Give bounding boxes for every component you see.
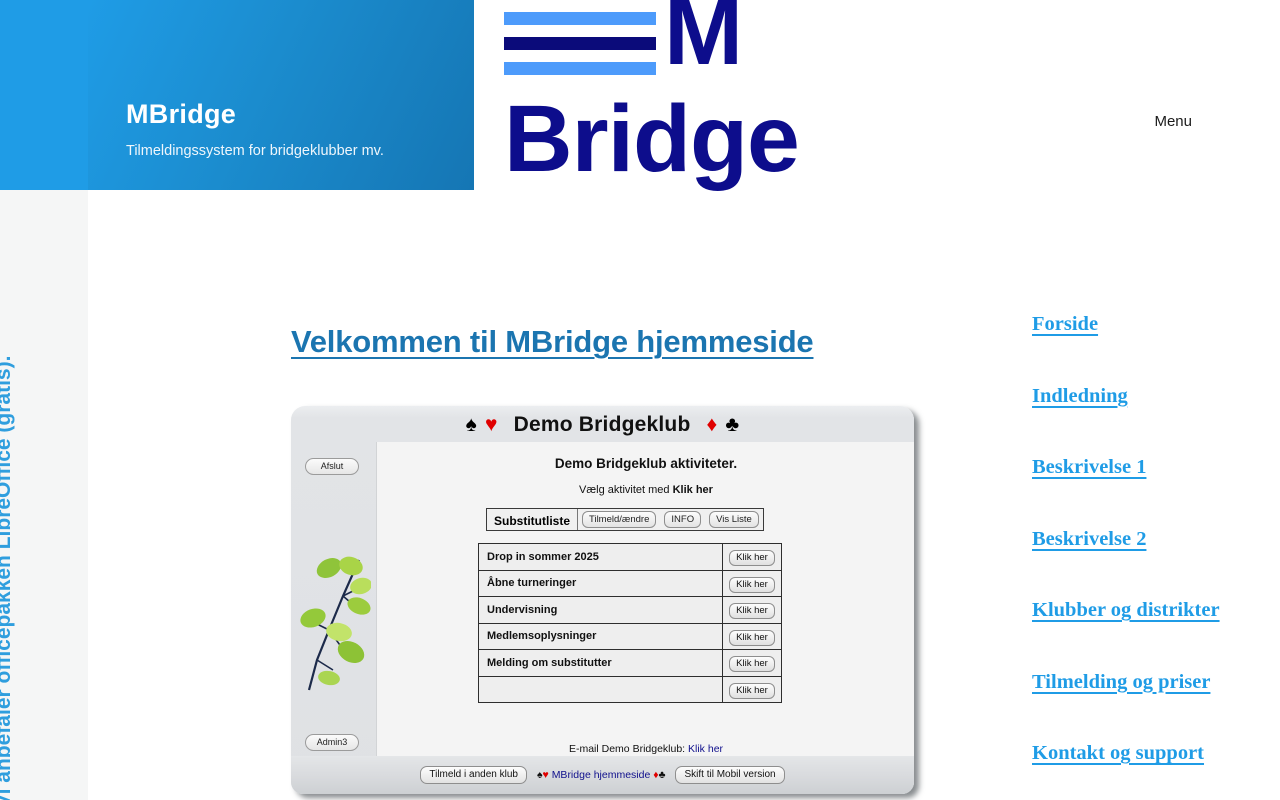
menu-toggle[interactable]: Menu — [1154, 113, 1244, 130]
tilmeld-anden-klub-button[interactable]: Tilmeld i anden klub — [420, 766, 527, 784]
club-icon: ♣ — [725, 413, 739, 436]
page-root: MBridge Tilmeldingssystem for bridgeklub… — [0, 0, 1280, 800]
tab-tilmeld-aendre[interactable]: Tilmeld/ændre — [582, 511, 656, 528]
logo-bars-icon — [504, 12, 656, 87]
nav-link-kontakt-og-support[interactable]: Kontakt og support — [1032, 742, 1272, 765]
activity-action-cell: Klik her — [723, 650, 782, 677]
klik-her-button[interactable]: Klik her — [729, 683, 775, 699]
tab-info[interactable]: INFO — [664, 511, 701, 528]
shot-tabbar: Substitutliste Tilmeld/ændre INFO Vis Li… — [486, 508, 764, 531]
klik-her-button[interactable]: Klik her — [729, 577, 775, 593]
activity-action-cell: Klik her — [723, 676, 782, 703]
activity-action-cell: Klik her — [723, 570, 782, 597]
site-title: MBridge — [126, 100, 466, 130]
email-label: E-mail Demo Bridgeklub: — [569, 743, 688, 755]
header-band — [88, 0, 474, 190]
logo-word-bridge: Bridge — [504, 92, 799, 187]
shot-club-name: Demo Bridgeklub — [514, 413, 691, 436]
nav-link-indledning[interactable]: Indledning — [1032, 385, 1272, 408]
libreoffice-note: Vi anbefaler officepakken LibreOffice (g… — [0, 188, 14, 800]
page-title[interactable]: Velkommen til MBridge hjemmeside — [291, 324, 813, 360]
nav-link-beskrivelse-1[interactable]: Beskrivelse 1 — [1032, 456, 1272, 479]
nav-link-klubber-og-distrikter[interactable]: Klubber og distrikter — [1032, 599, 1272, 622]
activity-name: Åbne turneringer — [479, 570, 723, 597]
table-row: Melding om substitutter Klik her — [479, 650, 782, 677]
nav-link-forside[interactable]: Forside — [1032, 313, 1272, 336]
table-row: Åbne turneringer Klik her — [479, 570, 782, 597]
table-row: Undervisning Klik her — [479, 597, 782, 624]
klik-her-button[interactable]: Klik her — [729, 550, 775, 566]
afslut-button[interactable]: Afslut — [305, 458, 359, 475]
nav-link-tilmelding-og-priser[interactable]: Tilmelding og priser — [1032, 671, 1272, 694]
shot-headline: Demo Bridgeklub aktiviteter. — [377, 456, 914, 471]
activity-action-cell: Klik her — [723, 623, 782, 650]
activity-action-cell: Klik her — [723, 544, 782, 571]
site-branding: MBridge Tilmeldingssystem for bridgeklub… — [126, 100, 466, 160]
tab-substitutliste[interactable]: Substitutliste — [487, 509, 578, 530]
shot-side-column: Afslut Admin3 — [291, 442, 376, 756]
activity-name: Undervisning — [479, 597, 723, 624]
table-row: Klik her — [479, 676, 782, 703]
right-nav: Forside Indledning Beskrivelse 1 Beskriv… — [1032, 313, 1272, 800]
activity-name: Melding om substitutter — [479, 650, 723, 677]
activity-name — [479, 676, 723, 703]
heart-icon: ♥ — [485, 413, 498, 436]
table-row: Medlemsoplysninger Klik her — [479, 623, 782, 650]
shot-footer: Tilmeld i anden klub ♠♥ MBridge hjemmesi… — [291, 756, 914, 794]
left-rail: Vi anbefaler officepakken LibreOffice (g… — [0, 190, 88, 800]
klik-her-button[interactable]: Klik her — [729, 656, 775, 672]
email-line: E-mail Demo Bridgeklub: Klik her — [377, 743, 914, 755]
admin-button[interactable]: Admin3 — [305, 734, 359, 751]
beech-branch-illustration — [299, 552, 371, 697]
logo-letter-m: M — [664, 0, 741, 80]
activity-name: Drop in sommer 2025 — [479, 544, 723, 571]
nav-link-beskrivelse-2[interactable]: Beskrivelse 2 — [1032, 528, 1272, 551]
shot-title-bar: ♠♥Demo Bridgeklub♦♣ — [291, 413, 914, 437]
shot-subhead-prefix: Vælg aktivitet med — [579, 484, 673, 496]
table-row: Drop in sommer 2025 Klik her — [479, 544, 782, 571]
heart-icon: ♥ — [543, 769, 549, 781]
mbridge-hjemmeside-link[interactable]: MBridge hjemmeside — [552, 769, 651, 781]
site-tagline: Tilmeldingssystem for bridgeklubber mv. — [126, 143, 466, 160]
header-left-strip — [0, 0, 88, 190]
menu-label: Menu — [1154, 113, 1192, 130]
spade-icon: ♠ — [466, 413, 477, 436]
shot-content-area: Demo Bridgeklub aktiviteter. Vælg aktivi… — [376, 442, 914, 756]
activities-table: Drop in sommer 2025 Klik her Åbne turner… — [478, 543, 782, 703]
diamond-icon: ♦ — [706, 413, 717, 436]
shot-subhead-strong: Klik her — [673, 484, 713, 496]
demo-app-screenshot: ♠♥Demo Bridgeklub♦♣ Afslut Admin3 Demo B… — [291, 406, 914, 794]
tab-vis-liste[interactable]: Vis Liste — [709, 511, 759, 528]
club-icon: ♣ — [659, 769, 666, 781]
activity-name: Medlemsoplysninger — [479, 623, 723, 650]
email-klik-her-link[interactable]: Klik her — [688, 743, 723, 755]
activity-action-cell: Klik her — [723, 597, 782, 624]
mbridge-logo[interactable]: M Bridge — [504, 4, 834, 184]
klik-her-button[interactable]: Klik her — [729, 630, 775, 646]
skift-mobil-version-button[interactable]: Skift til Mobil version — [675, 766, 784, 784]
shot-footer-center: ♠♥ MBridge hjemmeside ♦♣ — [537, 769, 666, 781]
shot-subheadline: Vælg aktivitet med Klik her — [377, 484, 914, 496]
klik-her-button[interactable]: Klik her — [729, 603, 775, 619]
